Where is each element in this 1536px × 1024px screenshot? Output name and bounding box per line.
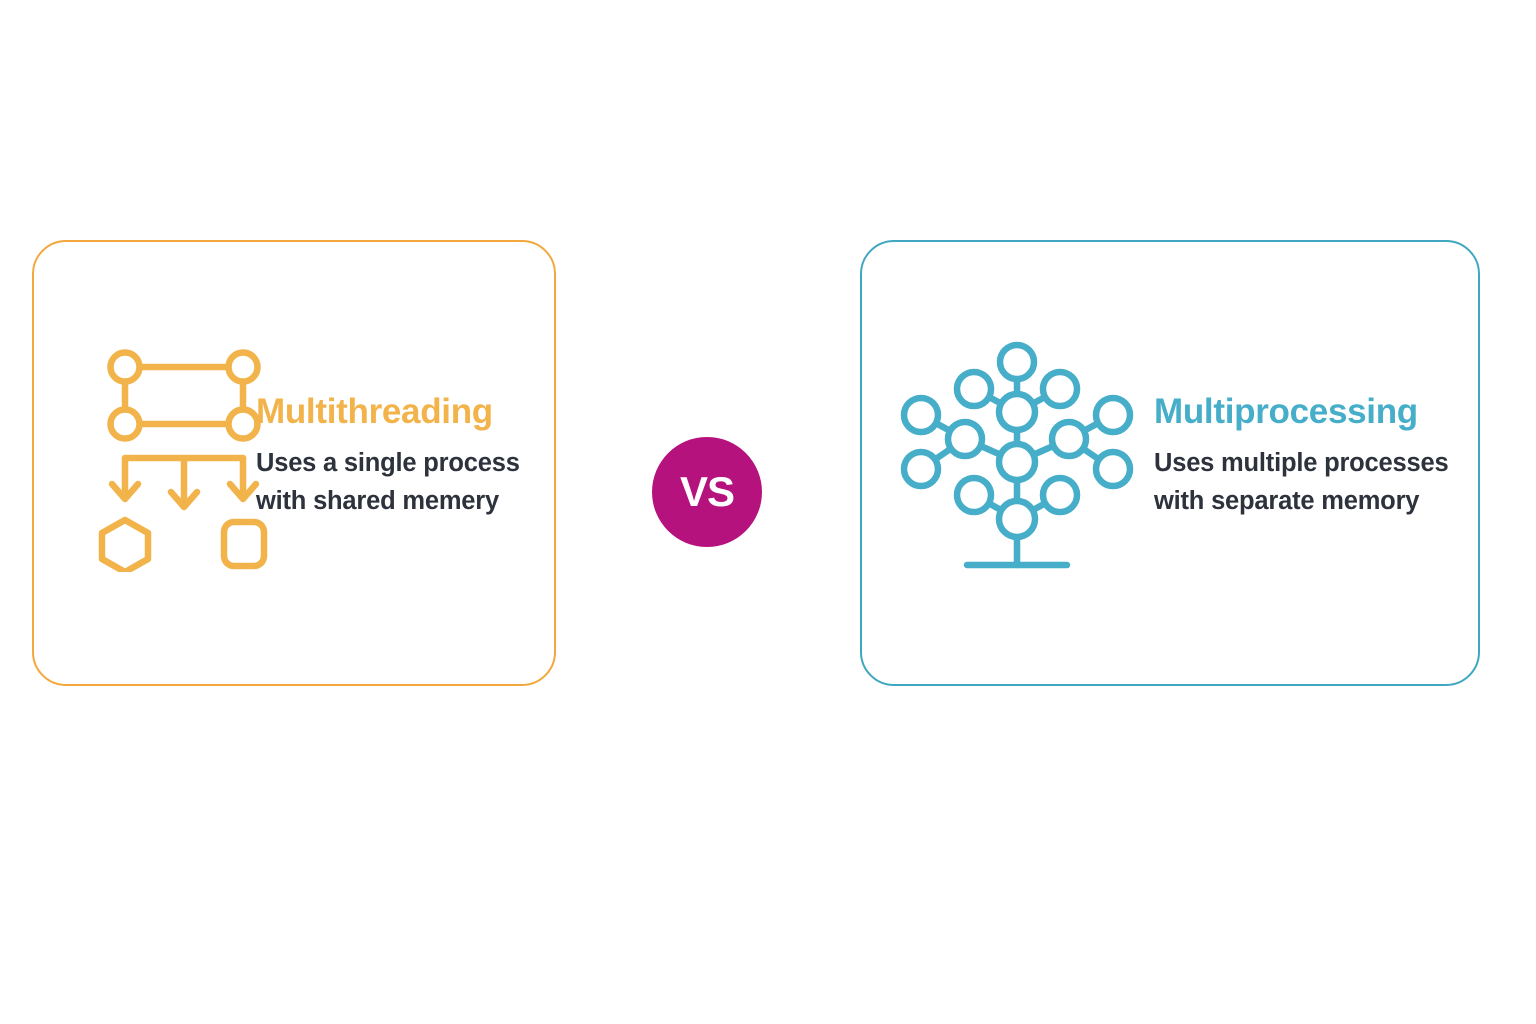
threads-shared-memory-svg — [78, 342, 268, 572]
vs-badge: VS — [652, 437, 762, 547]
process-tree-svg — [892, 337, 1142, 587]
card-right-title: Multiprocessing — [1154, 394, 1464, 430]
card-left-description: Uses a single process with shared memery — [256, 444, 546, 522]
card-right-text: Multiprocessing Uses multiple processes … — [1154, 394, 1464, 521]
card-right-description-line-1: Uses multiple processes — [1154, 444, 1464, 483]
comparison-graphic: Multithreading Uses a single process wit… — [0, 0, 1536, 1024]
vs-badge-label: VS — [680, 471, 734, 513]
threads-shared-memory-icon — [78, 342, 268, 572]
card-right-description: Uses multiple processes with separate me… — [1154, 444, 1464, 522]
card-left-description-line-2: with shared memery — [256, 482, 546, 521]
card-multithreading[interactable]: Multithreading Uses a single process wit… — [32, 240, 556, 686]
card-left-title: Multithreading — [256, 394, 546, 430]
card-left-description-line-1: Uses a single process — [256, 444, 546, 483]
card-left-text: Multithreading Uses a single process wit… — [256, 394, 546, 521]
process-tree-icon — [892, 337, 1142, 587]
card-multiprocessing[interactable]: Multiprocessing Uses multiple processes … — [860, 240, 1480, 686]
card-right-description-line-2: with separate memory — [1154, 482, 1464, 521]
